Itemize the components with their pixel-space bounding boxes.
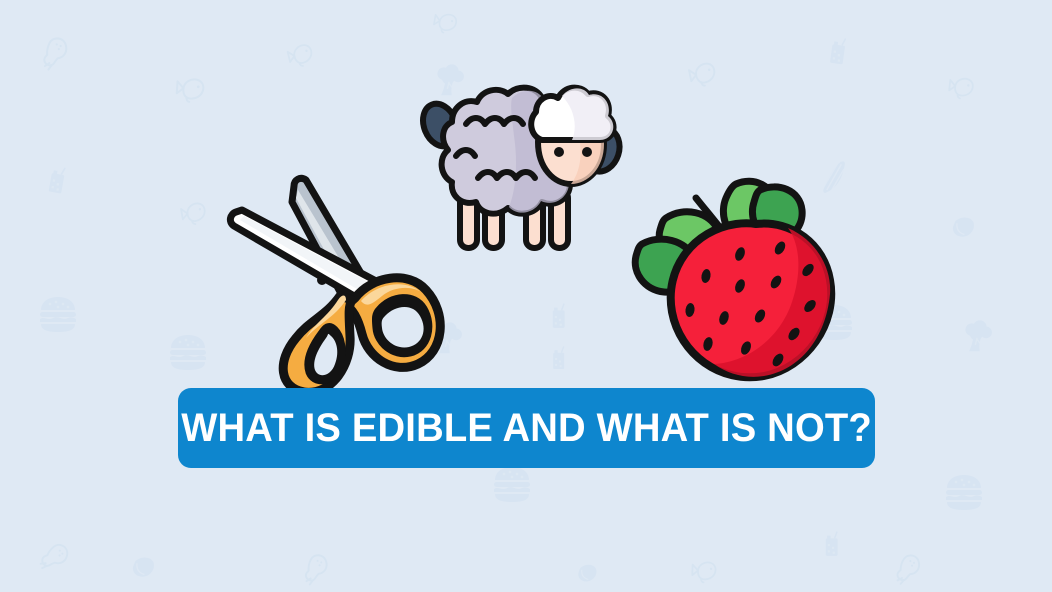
fish-icon (686, 555, 719, 592)
fish-icon (176, 197, 209, 235)
chicken-leg-icon (34, 31, 77, 77)
burger-icon (166, 330, 210, 379)
sheep-illustration (412, 78, 634, 256)
burger-icon (942, 470, 986, 519)
lemon-icon (948, 212, 978, 247)
fish-icon (282, 38, 318, 78)
fish-icon (684, 56, 721, 97)
juice-box-icon (546, 345, 572, 376)
fish-icon (942, 70, 978, 110)
fish-icon (169, 70, 208, 113)
juice-box-icon (818, 530, 846, 563)
scissors-pivot-screw (317, 275, 327, 285)
burger-icon (36, 292, 80, 341)
juice-box-icon (545, 302, 573, 335)
juice-box-icon (39, 163, 75, 203)
scissors-handle-left (283, 296, 352, 393)
juice-box-icon (821, 34, 856, 73)
broccoli-icon (960, 318, 996, 359)
lemon-icon (574, 560, 600, 591)
chicken-leg-icon (889, 550, 927, 592)
strawberry-illustration (628, 172, 850, 388)
chicken-leg-icon (296, 548, 336, 592)
poster-canvas: WHAT IS EDIBLE AND WHAT IS NOT? (0, 0, 1052, 592)
lemon-icon (128, 552, 158, 587)
title-banner: WHAT IS EDIBLE AND WHAT IS NOT? (178, 388, 875, 468)
chicken-leg-icon (35, 537, 74, 580)
scissors-handle-right (346, 278, 440, 368)
fish-icon (426, 5, 461, 44)
title-text: WHAT IS EDIBLE AND WHAT IS NOT? (181, 408, 872, 448)
strawberry-body (671, 223, 832, 377)
burger-icon (490, 462, 534, 511)
